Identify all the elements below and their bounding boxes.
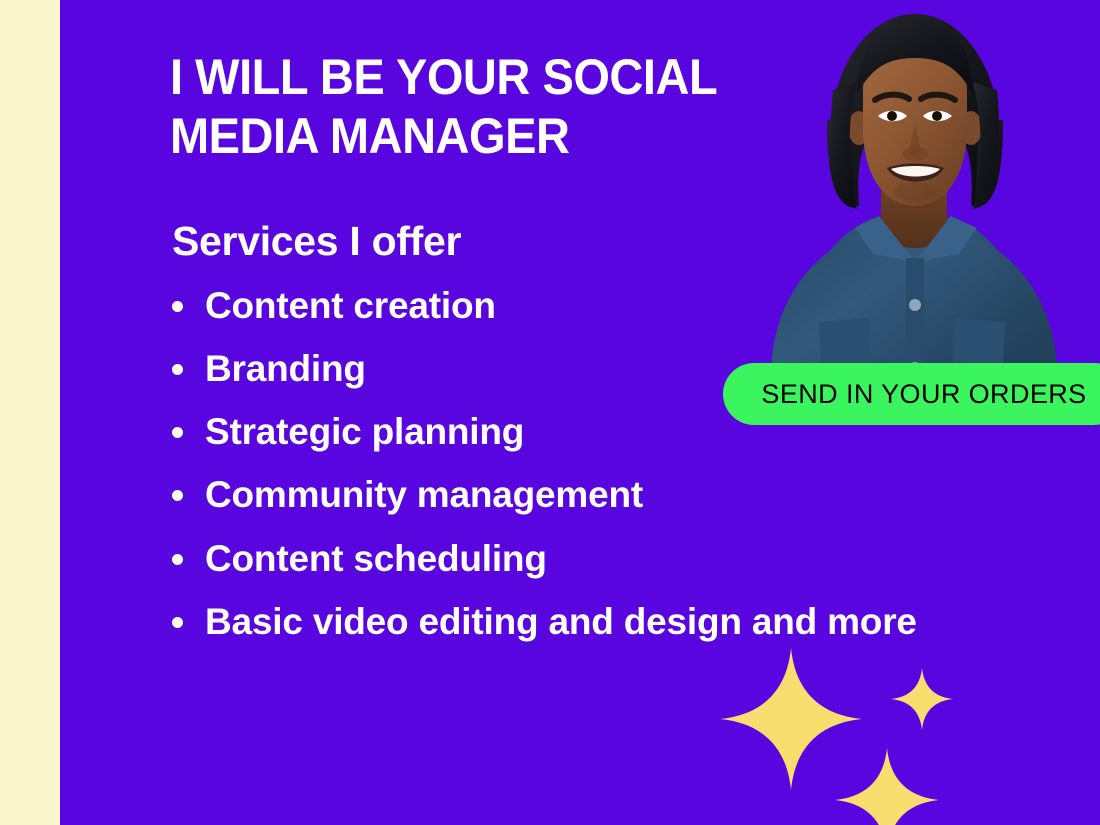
list-item-label: Strategic planning [205,411,524,452]
page-title: I WILL BE YOUR SOCIAL MEDIA MANAGER [170,48,734,166]
avatar [723,0,1100,375]
send-orders-button[interactable]: SEND IN YOUR ORDERS [723,363,1100,425]
list-item: Basic video editing and design and more [172,599,932,644]
left-accent-strip [0,0,60,825]
list-item: Content scheduling [172,536,932,581]
sparkle-icon [835,748,939,825]
list-item: Community management [172,472,932,517]
list-item-label: Branding [205,348,366,389]
bullet-icon [172,364,183,375]
main-purple-panel: I WILL BE YOUR SOCIAL MEDIA MANAGER Serv… [60,0,1100,825]
list-item-label: Content scheduling [205,538,547,579]
sparkle-icon [891,668,953,730]
bullet-icon [172,617,183,628]
bullet-icon [172,490,183,501]
bullet-icon [172,427,183,438]
list-item-label: Basic video editing and design and more [205,601,917,642]
promo-banner: I WILL BE YOUR SOCIAL MEDIA MANAGER Serv… [0,0,1100,825]
bullet-icon [172,554,183,565]
bullet-icon [172,301,183,312]
services-subheading: Services I offer [172,218,461,265]
list-item-label: Content creation [205,285,496,326]
list-item-label: Community management [205,474,643,515]
